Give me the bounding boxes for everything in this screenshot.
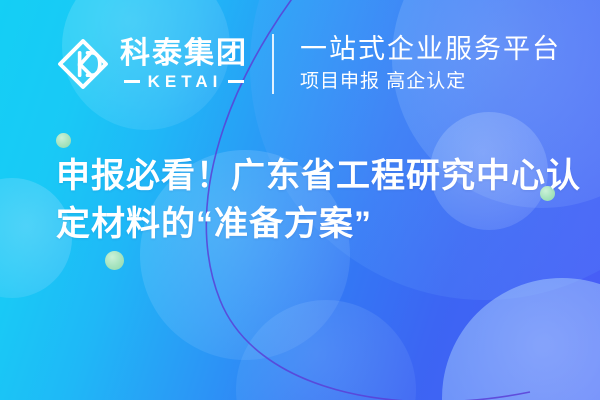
bottom-left-faint-circle <box>236 300 416 400</box>
title-line-1: 申报必看！广东省工程研究中心认 <box>56 152 576 200</box>
banner-title: 申报必看！广东省工程研究中心认 定材料的“准备方案” <box>56 152 576 248</box>
logo-english-name: KETAI <box>148 73 223 90</box>
title-line-2: 定材料的“准备方案” <box>56 200 576 248</box>
logo-chinese-name: 科泰集团 <box>120 38 248 70</box>
tagline-main-text: 一站式企业服务平台 <box>300 34 561 65</box>
logo-rule-right-icon <box>228 80 244 83</box>
header-divider <box>272 34 274 94</box>
mint-dot-lower-left <box>105 251 124 270</box>
logo-english-row: KETAI <box>120 73 248 90</box>
logo-rule-left-icon <box>124 80 140 83</box>
banner-header: 科泰集团 KETAI 一站式企业服务平台 项目申报 高企认定 <box>0 0 600 128</box>
promo-banner: 科泰集团 KETAI 一站式企业服务平台 项目申报 高企认定 申报必看！广东省工… <box>0 0 600 400</box>
logo-wordmark: 科泰集团 KETAI <box>120 38 248 91</box>
bottom-right-large-circle <box>442 278 600 400</box>
brand-logo[interactable]: 科泰集团 KETAI <box>55 36 248 92</box>
kd-diamond-logo-icon <box>55 36 111 92</box>
header-tagline: 一站式企业服务平台 项目申报 高企认定 <box>300 34 561 94</box>
mint-dot-upper-left <box>56 133 71 148</box>
tagline-sub-text: 项目申报 高企认定 <box>300 71 561 94</box>
